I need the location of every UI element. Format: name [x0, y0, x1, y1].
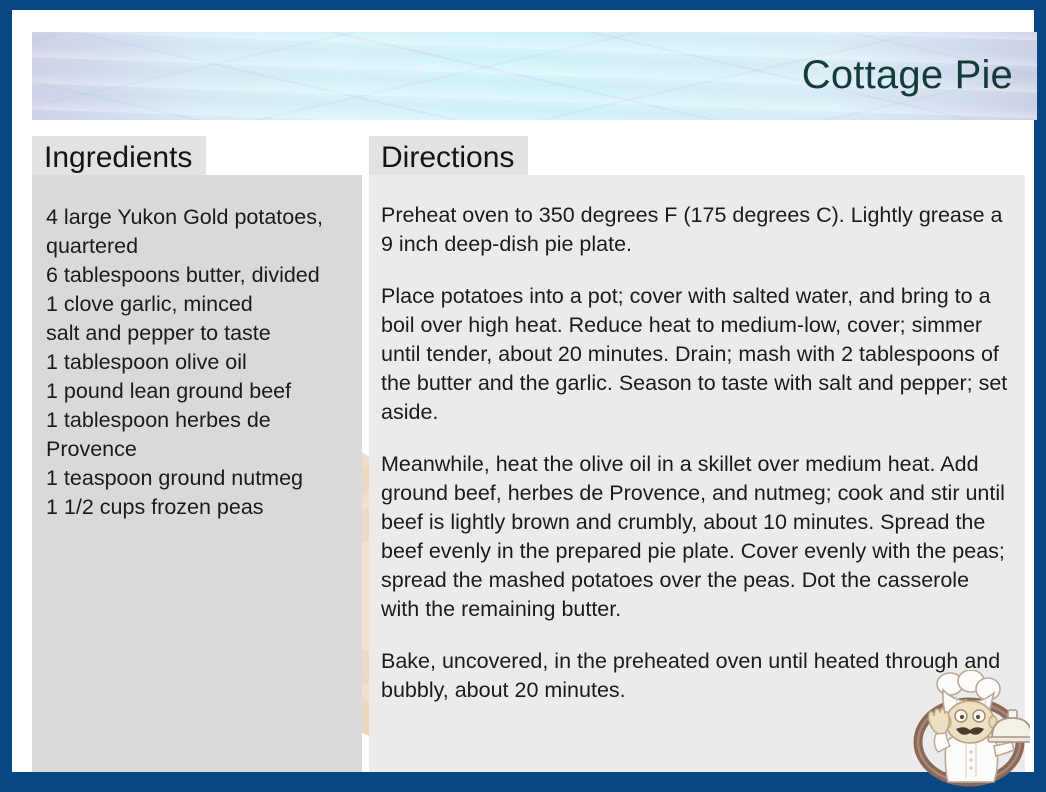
directions-heading: Directions	[369, 136, 528, 180]
direction-step: Place potatoes into a pot; cover with sa…	[381, 282, 1009, 427]
list-item: 1 1/2 cups frozen peas	[46, 493, 348, 522]
list-item: 1 pound lean ground beef	[46, 377, 348, 406]
list-item: 6 tablespoons butter, divided	[46, 261, 348, 290]
header-banner: Cottage Pie	[32, 32, 1037, 120]
direction-step: Bake, uncovered, in the preheated oven u…	[381, 647, 1009, 705]
list-item: 1 tablespoon olive oil	[46, 348, 348, 377]
ingredients-panel: 4 large Yukon Gold potatoes, quartered 6…	[32, 175, 362, 772]
ingredient-list: 4 large Yukon Gold potatoes, quartered 6…	[46, 203, 348, 522]
recipe-card: Cottage Pie	[0, 0, 1046, 792]
list-item: 1 clove garlic, minced	[46, 290, 348, 319]
direction-steps: Preheat oven to 350 degrees F (175 degre…	[381, 201, 1009, 705]
direction-step: Meanwhile, heat the olive oil in a skill…	[381, 450, 1009, 624]
list-item: 1 tablespoon herbes de Provence	[46, 406, 348, 464]
recipe-title: Cottage Pie	[802, 55, 1013, 95]
direction-step: Preheat oven to 350 degrees F (175 degre…	[381, 201, 1009, 259]
list-item: salt and pepper to taste	[46, 319, 348, 348]
list-item: 4 large Yukon Gold potatoes, quartered	[46, 203, 348, 261]
list-item: 1 teaspoon ground nutmeg	[46, 464, 348, 493]
ingredients-heading: Ingredients	[32, 136, 206, 180]
recipe-page: Cottage Pie	[12, 10, 1034, 772]
directions-panel: Preheat oven to 350 degrees F (175 degre…	[369, 175, 1025, 772]
